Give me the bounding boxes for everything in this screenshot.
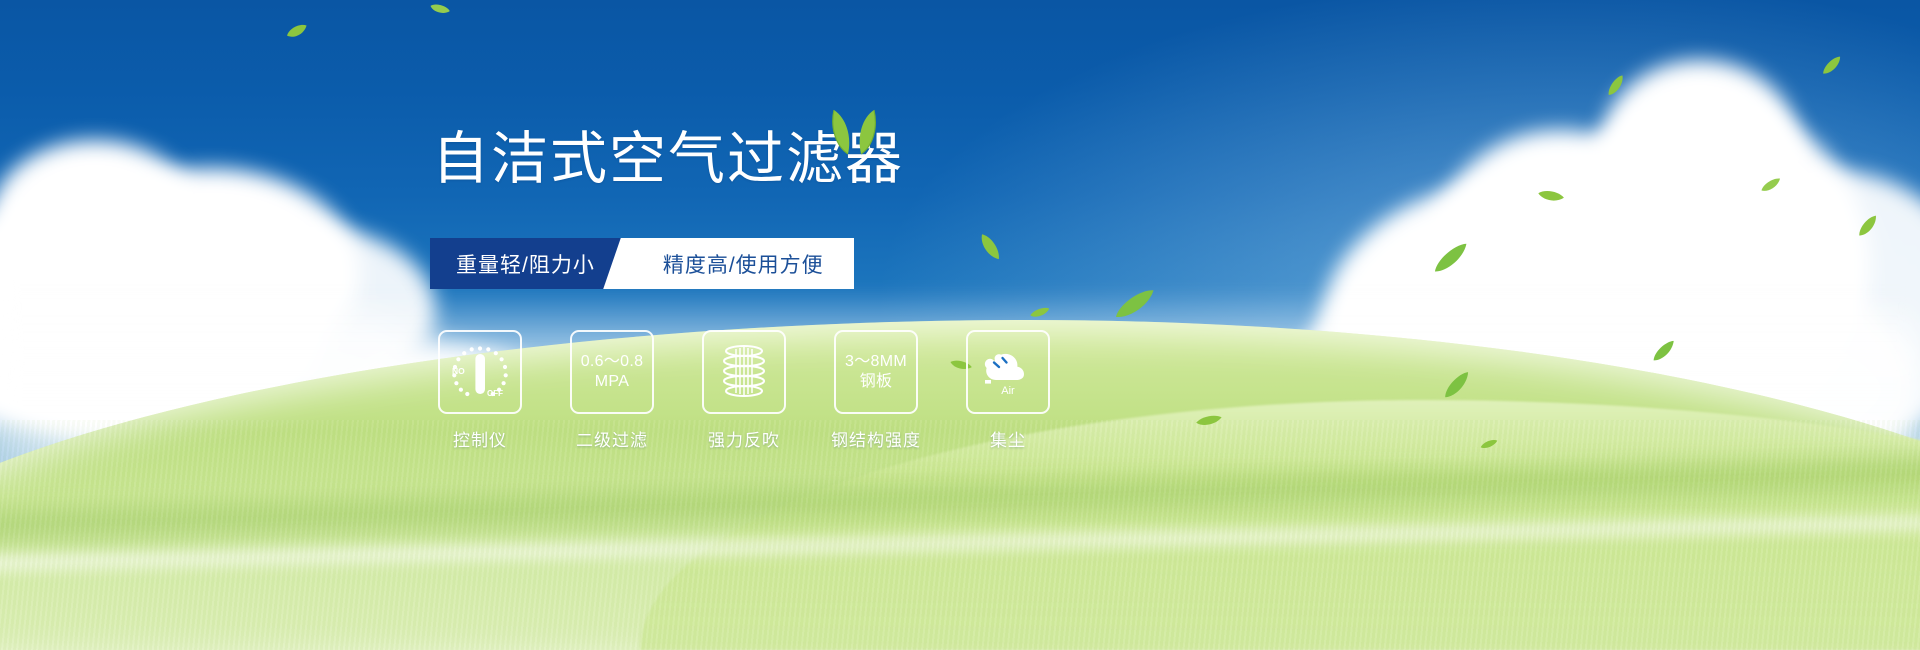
feature-icon-box: Air <box>966 330 1050 414</box>
gauge-icon: NO OFF <box>447 341 513 403</box>
feature-label: 强力反吹 <box>708 426 780 451</box>
pressure-unit: MPA <box>581 372 644 392</box>
badge-right-label: 精度高/使用方便 <box>663 249 824 279</box>
filter-cartridge-icon <box>714 341 774 403</box>
feature-item-pressure[interactable]: 0.6～0.8 MPA 二级过滤 <box>570 330 654 451</box>
badge-left-label: 重量轻/阻力小 <box>456 249 595 279</box>
feature-label: 二级过滤 <box>576 426 648 451</box>
feature-item-control[interactable]: NO OFF 控制仪 <box>438 330 522 451</box>
feature-icon-row: NO OFF 控制仪 0.6～0.8 MPA 二级过滤 <box>438 330 1050 451</box>
svg-text:OFF: OFF <box>487 389 503 398</box>
feature-icon-box: 3～8MM 钢板 <box>834 330 918 414</box>
feature-label: 控制仪 <box>453 426 507 451</box>
feature-item-backblow[interactable]: 强力反吹 <box>702 330 786 451</box>
feature-icon-box: NO OFF <box>438 330 522 414</box>
feature-item-steel[interactable]: 3～8MM 钢板 钢结构强度 <box>834 330 918 451</box>
svg-text:NO: NO <box>452 366 465 376</box>
feature-item-dust[interactable]: Air 集尘 <box>966 330 1050 451</box>
hero-banner: 自洁式空气过滤器 重量轻/阻力小 精度高/使用方便 <box>0 0 1920 650</box>
air-label: Air <box>1001 385 1015 397</box>
badge-weight-resistance[interactable]: 重量轻/阻力小 <box>430 238 629 289</box>
badge-precision-convenience[interactable]: 精度高/使用方便 <box>629 238 854 289</box>
steel-thickness: 3～8MM <box>845 352 907 372</box>
steel-plate-icon: 3～8MM 钢板 <box>845 352 907 392</box>
steel-material: 钢板 <box>845 372 907 392</box>
feature-icon-box: 0.6～0.8 MPA <box>570 330 654 414</box>
feature-label: 集尘 <box>990 426 1026 451</box>
feature-label: 钢结构强度 <box>831 426 921 451</box>
feature-icon-box <box>702 330 786 414</box>
air-cloud-icon: Air <box>976 342 1040 402</box>
pressure-icon: 0.6～0.8 MPA <box>581 352 644 392</box>
title-leaf-decoration <box>828 108 880 161</box>
pressure-value: 0.6～0.8 <box>581 352 644 372</box>
tagline-badge-bar: 重量轻/阻力小 精度高/使用方便 <box>430 238 854 289</box>
